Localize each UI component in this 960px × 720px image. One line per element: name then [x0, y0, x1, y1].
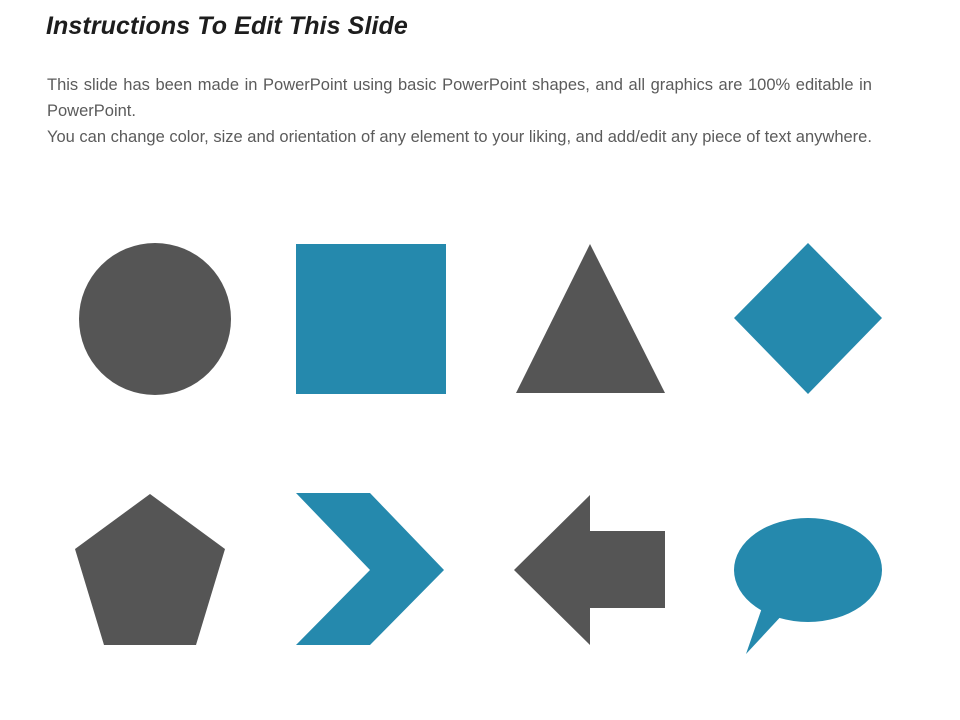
square-icon: [296, 244, 446, 394]
shape-square[interactable]: [288, 236, 458, 406]
arrow-left-icon: [514, 495, 665, 645]
shape-circle[interactable]: [70, 236, 240, 406]
shape-diamond[interactable]: [726, 236, 896, 406]
circle-icon: [79, 243, 231, 395]
slide-canvas: Instructions To Edit This Slide This sli…: [0, 0, 960, 720]
pentagon-icon: [75, 494, 225, 645]
shape-chevron-right[interactable]: [288, 486, 458, 661]
triangle-icon: [516, 244, 665, 393]
shape-speech-bubble[interactable]: [726, 486, 896, 666]
shape-pentagon[interactable]: [68, 486, 238, 661]
instructions-paragraph-1: This slide has been made in PowerPoint u…: [47, 72, 872, 124]
instructions-paragraph-2: You can change color, size and orientati…: [47, 124, 872, 150]
chevron-right-icon: [296, 493, 444, 645]
speech-bubble-icon: [734, 518, 882, 654]
diamond-icon: [734, 243, 882, 394]
shape-triangle[interactable]: [508, 236, 678, 406]
page-title: Instructions To Edit This Slide: [46, 12, 408, 41]
instructions-body: This slide has been made in PowerPoint u…: [47, 72, 872, 150]
shape-arrow-left[interactable]: [506, 486, 676, 661]
